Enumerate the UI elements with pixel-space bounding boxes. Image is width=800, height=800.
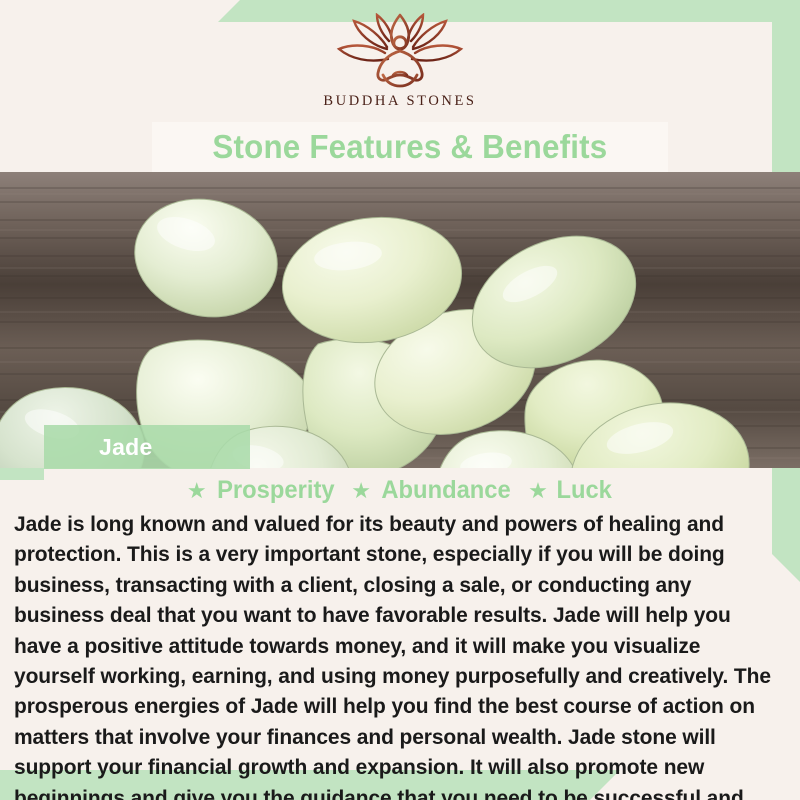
stone-photo bbox=[0, 172, 800, 468]
keyword-label: Abundance bbox=[381, 476, 510, 505]
jade-stones-image bbox=[0, 172, 800, 468]
lotus-meditation-figure-icon bbox=[325, 13, 475, 89]
stone-name-band: Jade bbox=[44, 425, 250, 469]
page-title: Stone Features & Benefits bbox=[213, 128, 608, 166]
keyword-item: ★ Prosperity bbox=[187, 476, 337, 505]
keyword-item: ★ Abundance bbox=[351, 476, 514, 505]
stone-name-label: Jade bbox=[99, 434, 153, 461]
star-icon: ★ bbox=[187, 480, 207, 502]
infographic-card: BUDDHA STONES Stone Features & Benefits bbox=[0, 0, 800, 800]
title-banner: Stone Features & Benefits bbox=[152, 122, 668, 172]
star-icon: ★ bbox=[351, 480, 371, 502]
keyword-list: ★ Prosperity ★ Abundance ★ Luck bbox=[0, 476, 800, 505]
keyword-label: Prosperity bbox=[217, 476, 334, 505]
keyword-label: Luck bbox=[556, 476, 611, 505]
brand-name: BUDDHA STONES bbox=[323, 93, 476, 110]
keyword-item: ★ Luck bbox=[528, 476, 613, 505]
brand-header: BUDDHA STONES bbox=[0, 0, 800, 122]
description-paragraph: Jade is long known and valued for its be… bbox=[14, 509, 774, 800]
star-icon: ★ bbox=[528, 480, 548, 502]
logo: BUDDHA STONES bbox=[323, 13, 476, 110]
